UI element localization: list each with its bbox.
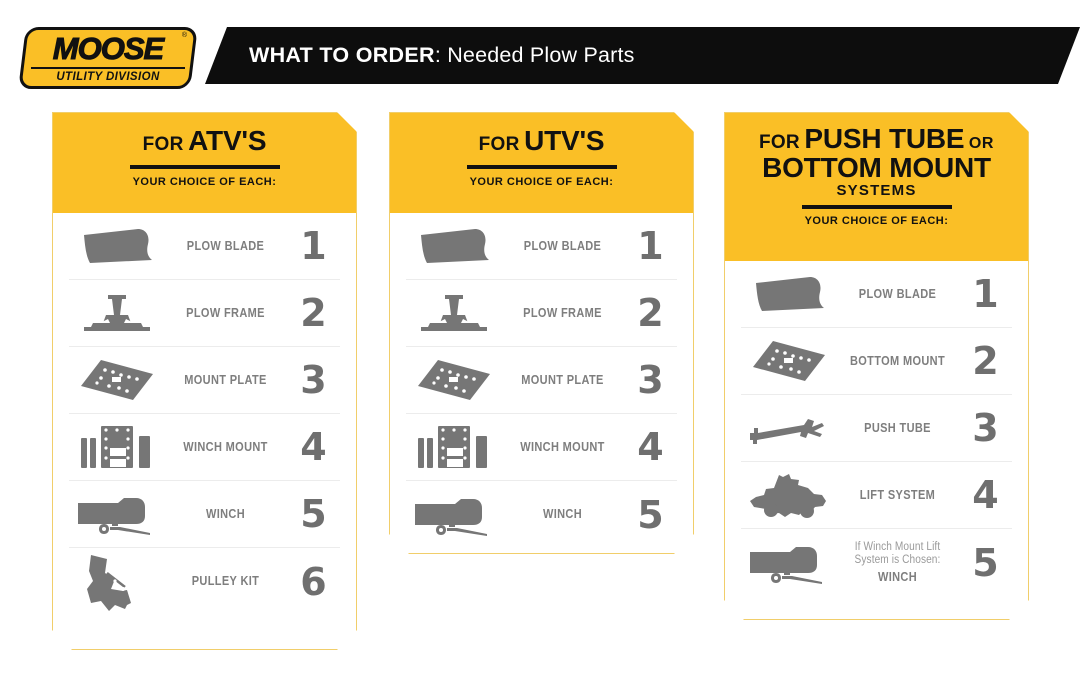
winch-mount-icon [406, 424, 502, 470]
page-header: MOOSE UTILITY DIVISION ® WHAT TO ORDER: … [0, 0, 1080, 105]
list-item-number: 5 [286, 495, 340, 533]
list-item-number: 3 [623, 361, 677, 399]
card-utv-header: FOR UTV'S YOUR CHOICE OF EACH: [390, 113, 693, 213]
lift-system-icon [741, 472, 837, 518]
card-push-tube-title-line2: BOTTOM MOUNT [739, 154, 1014, 183]
cards-container: FOR ATV'S YOUR CHOICE OF EACH: PLOW BLAD… [0, 112, 1080, 682]
card-atv-subtitle: YOUR CHOICE OF EACH: [67, 176, 342, 188]
card-atv-divider [130, 165, 280, 169]
header-banner: WHAT TO ORDER: Needed Plow Parts [205, 27, 1080, 84]
plow-frame-icon [406, 292, 502, 334]
card-push-tube-title-main: PUSH TUBE [804, 123, 964, 154]
card-atv: FOR ATV'S YOUR CHOICE OF EACH: PLOW BLAD… [52, 112, 357, 650]
list-item-number: 2 [623, 294, 677, 332]
list-item-number: 3 [286, 361, 340, 399]
list-item-label: WINCH [172, 507, 278, 521]
list-item[interactable]: PLOW BLADE 1 [69, 213, 340, 280]
list-item[interactable]: PLOW BLADE 1 [741, 261, 1012, 328]
list-item-label: WINCH [509, 507, 615, 521]
list-item-label: If Winch Mount Lift System is Chosen: WI… [844, 541, 950, 584]
list-item-number: 4 [623, 428, 677, 466]
list-item-number: 1 [286, 227, 340, 265]
page-title: WHAT TO ORDER: Needed Plow Parts [249, 27, 635, 84]
mount-plate-icon [69, 358, 165, 402]
list-item-label: WINCH MOUNT [172, 440, 278, 454]
card-utv-title-small: FOR [479, 134, 520, 155]
card-push-tube-header: FOR PUSH TUBE OR BOTTOM MOUNT SYSTEMS YO… [725, 113, 1028, 261]
winch-icon [741, 542, 837, 584]
list-item[interactable]: PLOW FRAME 2 [406, 280, 677, 347]
list-item[interactable]: PULLEY KIT 6 [69, 548, 340, 615]
card-push-tube-title-line3: SYSTEMS [739, 183, 1014, 198]
list-item[interactable]: MOUNT PLATE 3 [406, 347, 677, 414]
card-push-tube-title-line1: FOR PUSH TUBE OR [739, 125, 1014, 154]
logo-brand-text: MOOSE [25, 33, 191, 65]
list-item-label: PLOW BLADE [509, 239, 615, 253]
card-atv-title: FOR ATV'S [67, 127, 342, 156]
list-item-note: If Winch Mount Lift System is Chosen: [844, 541, 950, 567]
list-item-number: 1 [958, 275, 1012, 313]
pulley-kit-icon [69, 553, 165, 611]
logo-sub-text: UTILITY DIVISION [31, 67, 185, 83]
card-utv-subtitle: YOUR CHOICE OF EACH: [404, 176, 679, 188]
list-item[interactable]: BOTTOM MOUNT 2 [741, 328, 1012, 395]
page-title-strong: WHAT TO ORDER [249, 43, 435, 68]
list-item[interactable]: If Winch Mount Lift System is Chosen: WI… [741, 529, 1012, 596]
list-item-number: 3 [958, 409, 1012, 447]
winch-icon [69, 493, 165, 535]
plow-blade-icon [406, 226, 502, 266]
winch-icon [406, 494, 502, 536]
winch-mount-icon [69, 424, 165, 470]
list-item-label: PLOW BLADE [844, 287, 950, 301]
plow-frame-icon [69, 292, 165, 334]
card-push-tube-title-bottom-mount: BOTTOM MOUNT [762, 152, 991, 183]
list-item[interactable]: PLOW BLADE 1 [406, 213, 677, 280]
list-item-number: 4 [958, 476, 1012, 514]
list-item[interactable]: WINCH MOUNT 4 [406, 414, 677, 481]
plow-blade-icon [69, 226, 165, 266]
list-item-label: MOUNT PLATE [509, 373, 615, 387]
list-item[interactable]: MOUNT PLATE 3 [69, 347, 340, 414]
bottom-mount-icon [741, 339, 837, 383]
card-utv-title-big: UTV'S [524, 125, 604, 156]
card-atv-header: FOR ATV'S YOUR CHOICE OF EACH: [53, 113, 356, 213]
list-item-number: 4 [286, 428, 340, 466]
list-item[interactable]: WINCH 5 [406, 481, 677, 548]
moose-logo: MOOSE UTILITY DIVISION ® [18, 27, 198, 89]
list-item-number: 5 [623, 496, 677, 534]
mount-plate-icon [406, 358, 502, 402]
list-item-label: MOUNT PLATE [172, 373, 278, 387]
card-utv: FOR UTV'S YOUR CHOICE OF EACH: PLOW BLAD… [389, 112, 694, 554]
card-atv-title-small: FOR [143, 134, 184, 155]
list-item-number: 2 [958, 342, 1012, 380]
card-push-tube-title-for: FOR [759, 132, 800, 153]
card-atv-body: PLOW BLADE 1 PLOW FRAME 2 MOUNT PLATE 3 [53, 213, 356, 615]
card-push-tube-body: PLOW BLADE 1 BOTTOM MOUNT 2 PUSH TUBE 3 [725, 261, 1028, 596]
list-item-number: 2 [286, 294, 340, 332]
registered-mark-icon: ® [182, 32, 187, 39]
card-utv-title: FOR UTV'S [404, 127, 679, 156]
list-item[interactable]: LIFT SYSTEM 4 [741, 462, 1012, 529]
list-item-label: PLOW FRAME [509, 306, 615, 320]
push-tube-icon [741, 411, 837, 445]
card-atv-title-big: ATV'S [188, 125, 266, 156]
list-item-number: 1 [623, 227, 677, 265]
list-item-label: PLOW BLADE [172, 239, 278, 253]
list-item-number: 5 [958, 544, 1012, 582]
plow-blade-icon [741, 274, 837, 314]
list-item-label: PULLEY KIT [172, 574, 278, 588]
list-item-label-text: WINCH [844, 570, 950, 584]
list-item-label: LIFT SYSTEM [844, 488, 950, 502]
list-item-number: 6 [286, 563, 340, 601]
card-push-tube-bottom-mount: FOR PUSH TUBE OR BOTTOM MOUNT SYSTEMS YO… [724, 112, 1029, 620]
card-push-tube-subtitle: YOUR CHOICE OF EACH: [739, 215, 1014, 227]
card-push-tube-title-or: OR [969, 135, 994, 152]
list-item[interactable]: PUSH TUBE 3 [741, 395, 1012, 462]
list-item-label: WINCH MOUNT [509, 440, 615, 454]
page-title-rest: : Needed Plow Parts [435, 43, 635, 68]
infographic-page: MOOSE UTILITY DIVISION ® WHAT TO ORDER: … [0, 0, 1080, 691]
card-push-tube-divider [802, 205, 952, 209]
list-item[interactable]: WINCH 5 [69, 481, 340, 548]
list-item-label: PLOW FRAME [172, 306, 278, 320]
card-utv-divider [467, 165, 617, 169]
card-utv-body: PLOW BLADE 1 PLOW FRAME 2 MOUNT PLATE 3 [390, 213, 693, 548]
list-item-label: PUSH TUBE [844, 421, 950, 435]
list-item[interactable]: WINCH MOUNT 4 [69, 414, 340, 481]
list-item-label: BOTTOM MOUNT [844, 354, 950, 368]
list-item[interactable]: PLOW FRAME 2 [69, 280, 340, 347]
